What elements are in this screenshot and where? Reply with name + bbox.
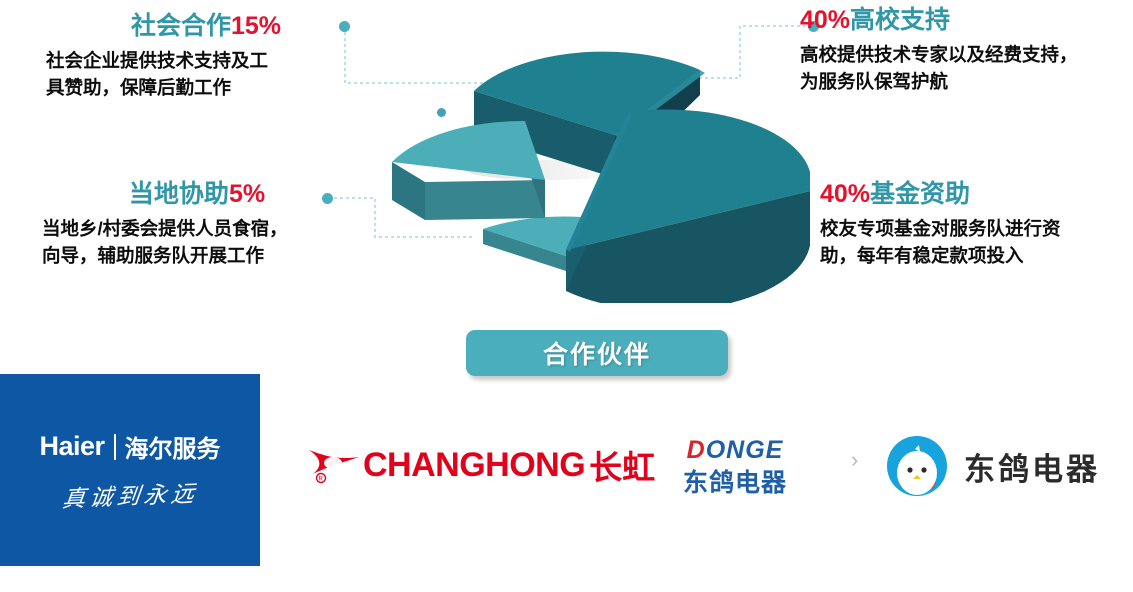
donge-wordmark-rest: ONGE bbox=[706, 436, 784, 464]
callout-local-percent: 5% bbox=[229, 180, 265, 208]
haier-cn-text: 海尔服务 bbox=[125, 429, 221, 464]
haier-divider bbox=[114, 434, 116, 460]
callout-local-body: 当地乡/村委会提供人员食宿， 向导，辅助服务队开展工作 bbox=[42, 216, 352, 270]
callout-university-headline: 40%高校支持 bbox=[800, 6, 1133, 35]
dongge-bird-cn-text: 东鸽电器 bbox=[964, 444, 1100, 489]
logo-donge: DONGE 东鸽电器 bbox=[683, 436, 787, 499]
slide-canvas: 社会合作15% 社会企业提供技术支持及工 具赞助，保障后勤工作 40%高校支持 … bbox=[0, 0, 1133, 592]
callout-university: 40%高校支持 高校提供技术专家以及经费支持， 为服务队保驾护航 bbox=[800, 6, 1133, 95]
donge-wordmark-d: D bbox=[687, 436, 706, 464]
logo-haier: Haier 海尔服务 真诚到永远 bbox=[0, 374, 260, 566]
callout-university-title: 高校支持 bbox=[850, 6, 950, 34]
callout-social-headline: 社会合作15% bbox=[46, 12, 366, 41]
callout-local-headline: 当地协助5% bbox=[42, 180, 352, 209]
callout-fund-headline: 40%基金资助 bbox=[820, 180, 1133, 209]
callout-social-percent: 15% bbox=[231, 12, 281, 40]
callout-fund: 40%基金资助 校友专项基金对服务队进行资 助，每年有稳定款项投入 bbox=[820, 180, 1133, 269]
callout-university-percent: 40% bbox=[800, 6, 850, 34]
changhong-cn-text: 长虹 bbox=[589, 441, 655, 489]
callout-university-body: 高校提供技术专家以及经费支持， 为服务队保驾护航 bbox=[800, 42, 1133, 96]
partners-banner: 合作伙伴 bbox=[466, 330, 728, 376]
haier-logo-row: Haier 海尔服务 bbox=[39, 429, 220, 464]
haier-wordmark: Haier bbox=[39, 431, 104, 462]
svg-text:R: R bbox=[319, 477, 324, 483]
callout-local: 当地协助5% 当地乡/村委会提供人员食宿， 向导，辅助服务队开展工作 bbox=[42, 180, 352, 269]
callout-social: 社会合作15% 社会企业提供技术支持及工 具赞助，保障后勤工作 bbox=[46, 12, 366, 101]
callout-local-title: 当地协助 bbox=[129, 180, 229, 208]
logo-changhong: R CHANGHONG 长虹 bbox=[307, 441, 655, 489]
haier-slogan: 真诚到永远 bbox=[60, 474, 200, 514]
callout-social-title: 社会合作 bbox=[131, 12, 231, 40]
logo-separator-chevron-icon: › bbox=[851, 447, 858, 473]
dove-mascot-icon bbox=[886, 435, 948, 497]
logo-dongge-bird: 东鸽电器 bbox=[886, 435, 1100, 497]
partners-banner-label: 合作伙伴 bbox=[543, 335, 651, 371]
pie-chart-3d bbox=[370, 18, 810, 303]
donge-cn-text: 东鸽电器 bbox=[683, 463, 787, 499]
donge-wordmark-row: DONGE bbox=[683, 436, 787, 465]
callout-social-body: 社会企业提供技术支持及工 具赞助，保障后勤工作 bbox=[46, 48, 366, 102]
changhong-wordmark: CHANGHONG bbox=[363, 446, 585, 485]
callout-fund-percent: 40% bbox=[820, 180, 870, 208]
changhong-star-icon: R bbox=[307, 444, 363, 486]
donge-wordmark: DONGE bbox=[687, 436, 784, 464]
callout-fund-body: 校友专项基金对服务队进行资 助，每年有稳定款项投入 bbox=[820, 216, 1133, 270]
callout-fund-title: 基金资助 bbox=[870, 180, 970, 208]
